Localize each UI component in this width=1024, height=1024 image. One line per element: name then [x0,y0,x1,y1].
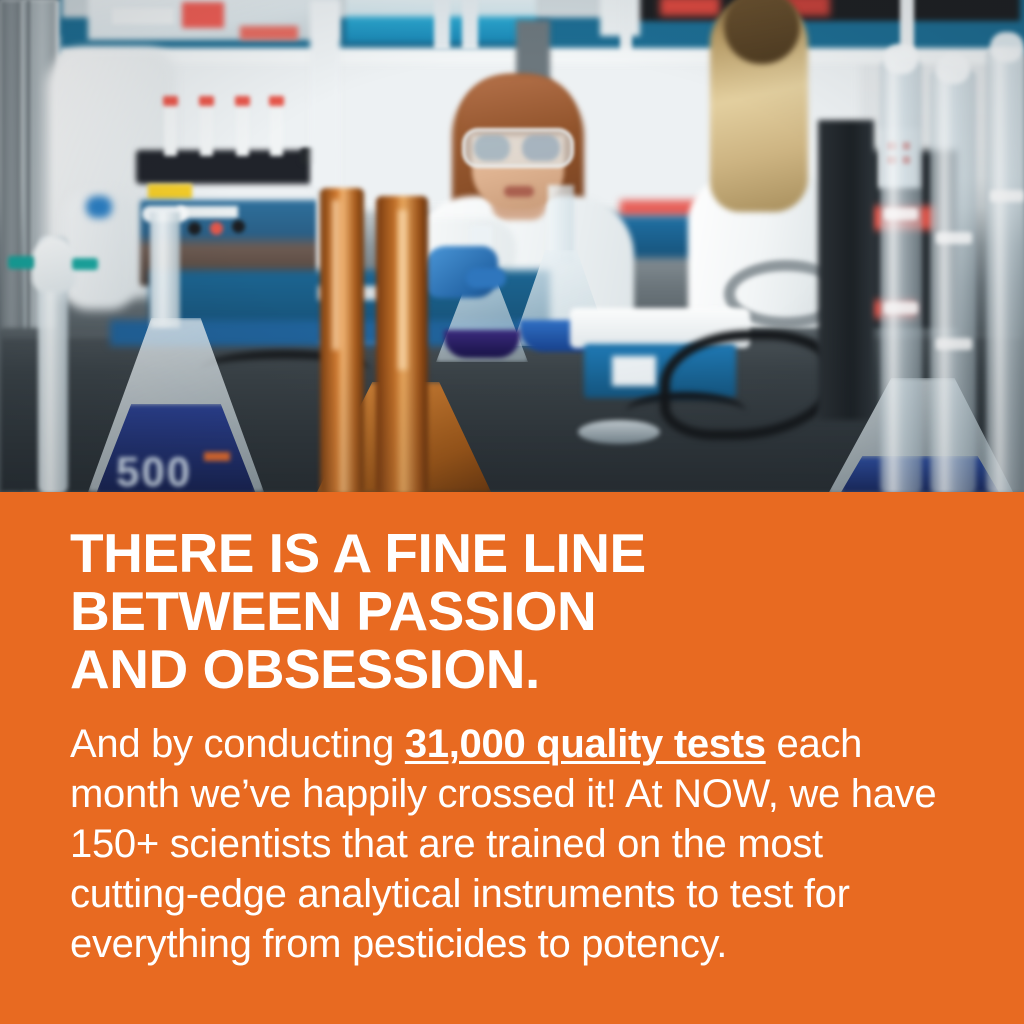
test-tube-cap [199,96,214,106]
cabinet-red-box-b [240,26,298,40]
test-tube-cap [163,96,178,106]
held-flask-left-liquid [444,330,520,358]
lab-photo-hero: 500 [0,0,1024,492]
body-copy: And by conducting 31,000 quality tests e… [70,719,958,969]
goggles-lens-left [474,135,510,161]
test-tube-rack [136,150,316,184]
balance-control-panel [612,356,656,386]
glass-burette-a [880,60,922,492]
glass-burette-a-stopper [884,44,918,74]
orange-message-panel: THERE IS A FINE LINE BETWEEN PASSION AND… [0,492,1024,1024]
amber-glass-column-a [320,188,364,492]
headline: THERE IS A FINE LINE BETWEEN PASSION AND… [70,524,970,698]
test-tube [270,100,283,156]
test-tube-cap [235,96,250,106]
social-graphic-canvas: 500 THERE IS A FINE LINE BETWEEN PASSION… [0,0,1024,1024]
watch-glass-dish [578,420,660,444]
glass-burette-b [930,70,976,492]
burette-graduation-ring [990,190,1024,202]
scientist-left-glove [86,196,112,218]
instrument-knob [232,220,245,233]
scientist-center-hair-top [460,76,576,136]
cabinet-red-bottles-a [660,0,720,16]
cabinet-red-box-a [182,2,224,28]
body-copy-before: And by conducting [70,722,405,766]
volumetric-flask-neck [150,212,180,328]
burette-graduation-ring [884,208,918,220]
test-tube [200,100,213,156]
instrument-power-indicator [210,222,223,235]
teal-marker-band-left [8,256,34,269]
glass-burette-c-stopper [990,32,1024,62]
pipette-bulb [32,238,76,292]
dark-equipment-column [818,120,874,420]
flask-orange-graduation-mark [204,452,230,461]
burette-graduation-ring [884,302,918,314]
amber-column-highlight-a [332,200,340,350]
teal-marker-band-right [72,258,98,270]
amber-column-highlight-b [398,210,407,370]
blue-nitrile-glove-thumb [466,268,506,288]
test-tube [236,100,249,156]
burette-graduation-ring [936,338,972,350]
instrument-knob [188,222,201,235]
glass-burette-c [986,48,1024,492]
cabinet-bottle-b [462,0,478,50]
quality-tests-highlight: 31,000 quality tests [405,722,766,766]
scientist-center-mouth [504,186,534,197]
fume-hood-edge [310,0,340,190]
test-tube-cap [269,96,284,106]
burette-graduation-ring [936,232,972,244]
instrument-yellow-label [148,184,192,199]
cabinet-bottle-a [434,0,450,50]
goggles-lens-right [522,135,560,161]
cabinet-box-label [112,8,174,24]
glass-burette-b-stopper [936,54,970,84]
test-tube [164,100,177,156]
